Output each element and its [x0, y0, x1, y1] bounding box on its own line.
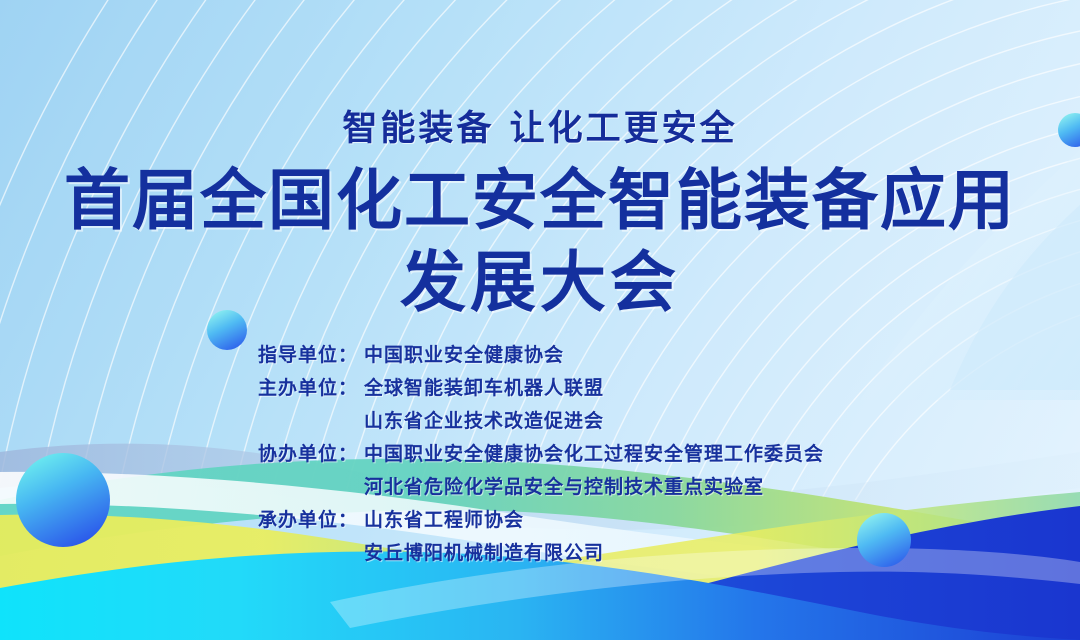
organizer-label: 协办单位：	[258, 439, 364, 466]
organizer-value: 河北省危险化学品安全与控制技术重点实验室	[364, 472, 764, 499]
organizer-value: 山东省企业技术改造促进会	[364, 406, 604, 433]
main-title-line-2: 发展大会	[0, 250, 1080, 316]
organizer-value: 中国职业安全健康协会化工过程安全管理工作委员会	[364, 439, 824, 466]
organizer-row: 河北省危险化学品安全与控制技术重点实验室	[0, 472, 1080, 505]
organizer-label: 承办单位：	[258, 505, 364, 532]
organizer-row: 安丘博阳机械制造有限公司	[0, 538, 1080, 571]
organizer-row: 承办单位： 山东省工程师协会	[0, 505, 1080, 538]
organizer-label: 主办单位：	[258, 373, 364, 400]
organizer-row: 指导单位： 中国职业安全健康协会	[0, 340, 1080, 373]
poster-main-title: 首届全国化工安全智能装备应用 发展大会	[0, 168, 1080, 316]
organizer-row: 山东省企业技术改造促进会	[0, 406, 1080, 439]
poster-canvas: 智能装备 让化工更安全 首届全国化工安全智能装备应用 发展大会 指导单位： 中国…	[0, 0, 1080, 640]
organizer-value: 山东省工程师协会	[364, 505, 524, 532]
organizer-row: 主办单位： 全球智能装卸车机器人联盟	[0, 373, 1080, 406]
organizer-value: 中国职业安全健康协会	[364, 340, 564, 367]
main-title-line-1: 首届全国化工安全智能装备应用	[0, 168, 1080, 234]
organizer-value: 安丘博阳机械制造有限公司	[364, 538, 604, 565]
poster-subtitle: 智能装备 让化工更安全	[0, 100, 1080, 151]
organizer-value: 全球智能装卸车机器人联盟	[364, 373, 604, 400]
organizer-label: 指导单位：	[258, 340, 364, 367]
organizer-list: 指导单位： 中国职业安全健康协会 主办单位： 全球智能装卸车机器人联盟 山东省企…	[0, 340, 1080, 571]
organizer-row: 协办单位： 中国职业安全健康协会化工过程安全管理工作委员会	[0, 439, 1080, 472]
poster-text-content: 智能装备 让化工更安全 首届全国化工安全智能装备应用 发展大会 指导单位： 中国…	[0, 0, 1080, 640]
